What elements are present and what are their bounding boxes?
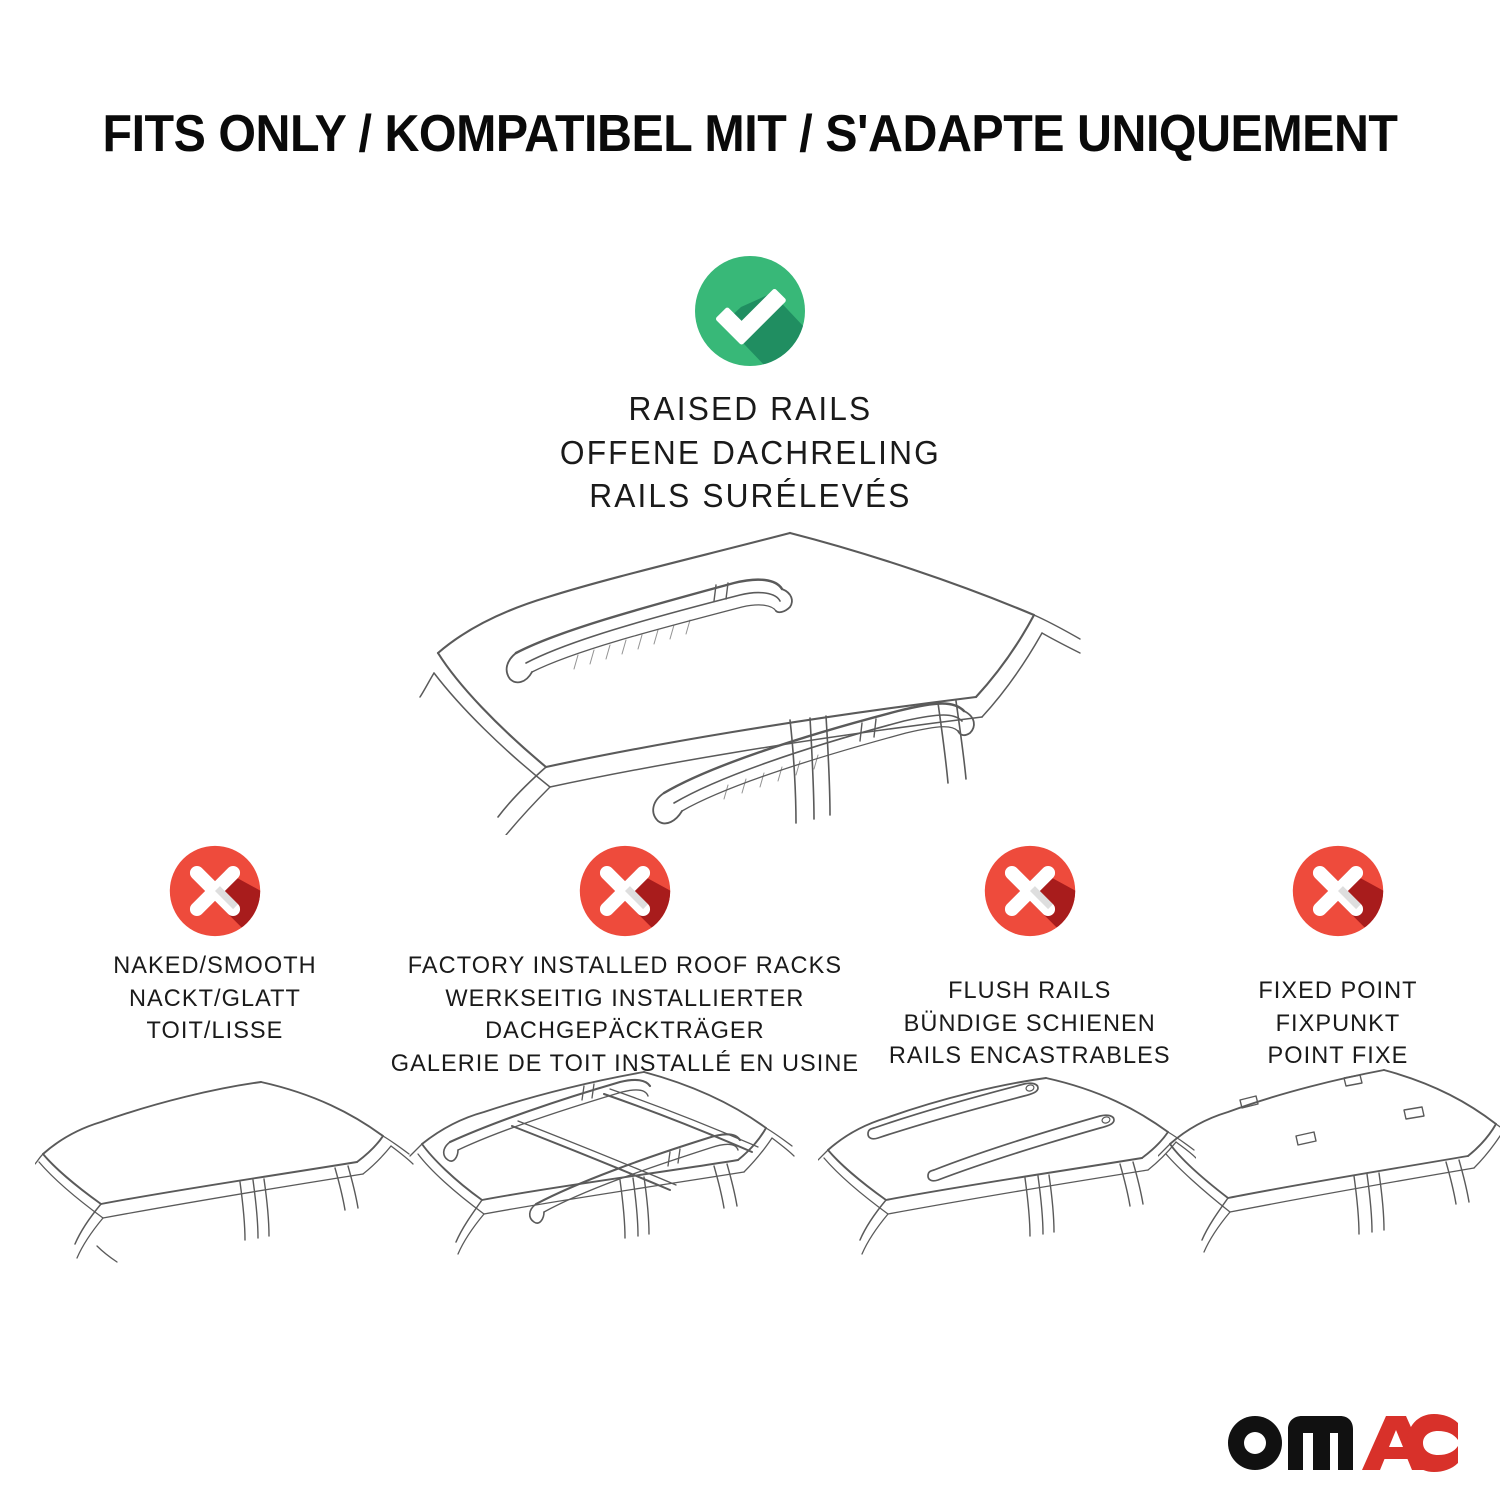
label-fr: TOIT/LISSE: [113, 1015, 316, 1048]
label-de-2: DACHGEPÄCKTRÄGER: [391, 1015, 859, 1048]
compatible-label-en: RAISED RAILS: [560, 387, 941, 431]
label-de: BÜNDIGE SCHIENEN: [889, 1008, 1171, 1041]
compatible-section: RAISED RAILS OFFENE DACHRELING RAILS SUR…: [0, 255, 1500, 518]
green-check-circle-icon: [694, 255, 806, 367]
compatible-labels: RAISED RAILS OFFENE DACHRELING RAILS SUR…: [560, 387, 941, 518]
incompatible-item-flush-rails: FLUSH RAILS BÜNDIGE SCHIENEN RAILS ENCAS…: [855, 845, 1205, 1073]
car-roof-naked-smooth-diagram: [35, 1058, 415, 1293]
label-de-1: WERKSEITIG INSTALLIERTER: [391, 983, 859, 1016]
omac-logo: [1222, 1403, 1458, 1473]
incompatible-item-fixed-point: FIXED POINT FIXPUNKT POINT FIXE: [1195, 845, 1480, 1073]
red-x-circle-icon: [579, 845, 671, 937]
label-en: FIXED POINT: [1258, 975, 1417, 1008]
car-roof-fixed-point-diagram: [1158, 1058, 1500, 1293]
car-illustrations-row: [0, 1058, 1500, 1293]
incompatible-item-factory-installed-roof-racks: FACTORY INSTALLED ROOF RACKS WERKSEITIG …: [400, 845, 850, 1080]
label-de: NACKT/GLATT: [113, 983, 316, 1016]
incompatible-item-naked-smooth: NAKED/SMOOTH NACKT/GLATT TOIT/LISSE: [40, 845, 390, 1048]
red-x-circle-icon: [1292, 845, 1384, 937]
label-en: NAKED/SMOOTH: [113, 950, 316, 983]
car-roof-raised-rails-diagram: [398, 505, 1102, 835]
car-roof-flush-rails-diagram: [818, 1058, 1196, 1293]
car-roof-factory-racks-diagram: [408, 1058, 796, 1293]
page-title: FITS ONLY / KOMPATIBEL MIT / S'ADAPTE UN…: [53, 108, 1448, 160]
incompatible-section: NAKED/SMOOTH NACKT/GLATT TOIT/LISSE: [0, 845, 1500, 1075]
label-en: FACTORY INSTALLED ROOF RACKS: [391, 950, 859, 983]
label-en: FLUSH RAILS: [889, 975, 1171, 1008]
label-de: FIXPUNKT: [1258, 1008, 1417, 1041]
compatible-label-de: OFFENE DACHRELING: [560, 431, 941, 475]
incompatible-labels: NAKED/SMOOTH NACKT/GLATT TOIT/LISSE: [113, 950, 316, 1048]
red-x-circle-icon: [169, 845, 261, 937]
red-x-circle-icon: [984, 845, 1076, 937]
